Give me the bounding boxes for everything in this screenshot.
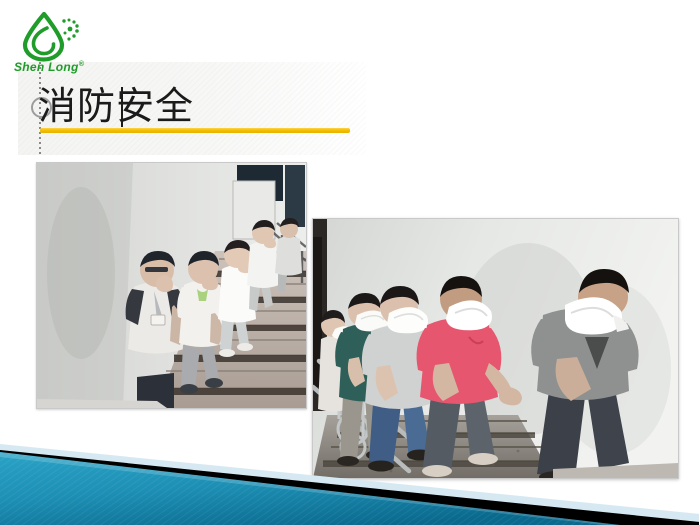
shen-long-logo: Shen Long® <box>14 12 100 78</box>
presentation-slide: Shen Long® 消防安全 <box>0 0 700 525</box>
photo-stairwell-left-content <box>37 163 306 408</box>
registered-mark: ® <box>79 61 84 68</box>
logo-wordmark-text: Shen Long <box>14 60 79 74</box>
wedge-shape <box>0 430 700 525</box>
title-underline <box>40 128 350 133</box>
decorative-wedge <box>0 430 700 525</box>
page-title: 消防安全 <box>38 84 194 128</box>
stairwell-evacuation-illustration <box>37 163 306 408</box>
photo-stairwell-left <box>36 162 307 409</box>
text-cursor <box>121 87 123 127</box>
logo-wordmark: Shen Long® <box>14 60 100 74</box>
droplet-icon <box>14 12 100 62</box>
